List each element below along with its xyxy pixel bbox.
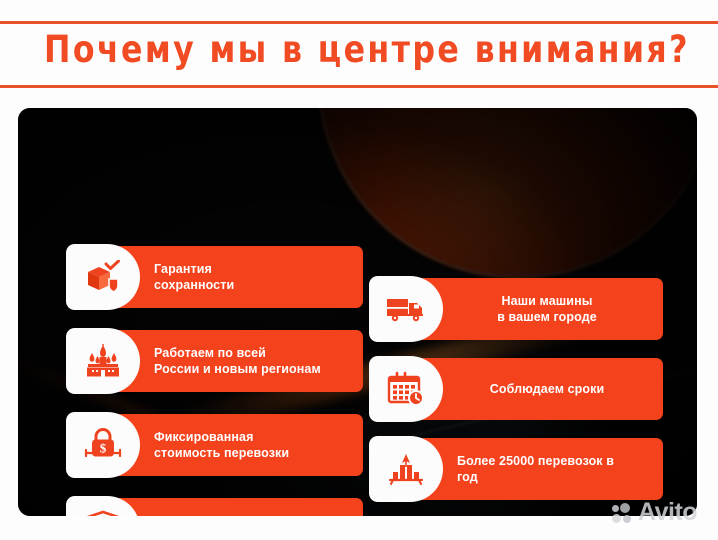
delivery-truck-icon bbox=[369, 276, 443, 342]
shield-cube-icon bbox=[66, 496, 140, 516]
feature-card-fixed-price[interactable]: $ Фиксированная стоимость перевозки bbox=[68, 414, 363, 476]
feature-card-insurance[interactable]: 100% Страхование каждого груза bbox=[68, 498, 363, 516]
page-title: Почему мы в центре внимания? bbox=[44, 28, 690, 71]
feature-card-fleet[interactable]: Наши машины в вашем городе bbox=[371, 278, 663, 340]
avito-dots-icon bbox=[612, 503, 634, 523]
avito-wordmark: Avito bbox=[638, 500, 697, 525]
feature-card-volume[interactable]: Более 25000 перевозок в год bbox=[371, 438, 663, 500]
header-rule-bottom bbox=[0, 85, 718, 88]
feature-card-coverage[interactable]: Работаем по всей России и новым регионам bbox=[68, 330, 363, 392]
feature-cards: Гарантия сохранности bbox=[18, 108, 697, 516]
avito-watermark: Avito bbox=[612, 500, 697, 525]
padlock-dollar-icon: $ bbox=[66, 412, 140, 478]
kremlin-cathedral-icon bbox=[66, 328, 140, 394]
feature-card-deadlines[interactable]: Соблюдаем сроки bbox=[371, 358, 663, 420]
cargo-stack-arrow-icon bbox=[369, 436, 443, 502]
features-panel: Гарантия сохранности bbox=[18, 108, 697, 516]
calendar-clock-icon bbox=[369, 356, 443, 422]
slide-root: Почему мы в центре внимания? bbox=[0, 0, 718, 540]
box-shield-check-icon bbox=[66, 244, 140, 310]
feature-card-guarantee[interactable]: Гарантия сохранности bbox=[68, 246, 363, 308]
header-rule-top bbox=[0, 21, 718, 24]
svg-text:$: $ bbox=[100, 441, 107, 456]
